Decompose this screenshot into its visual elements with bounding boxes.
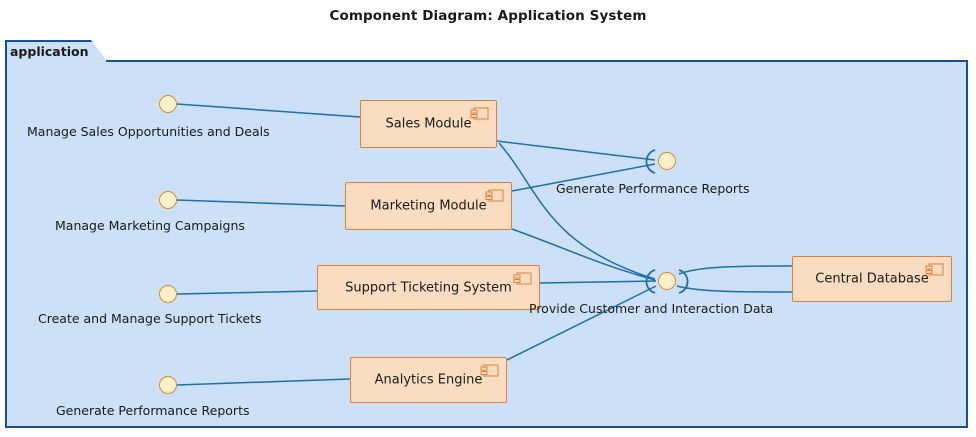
component-sales-module[interactable]: Sales Module <box>360 100 497 148</box>
component-label: Sales Module <box>361 117 496 132</box>
component-label: Marketing Module <box>346 199 511 214</box>
provided-interface-ball-icon[interactable] <box>159 376 177 394</box>
component-support-ticketing-system[interactable]: Support Ticketing System <box>317 265 540 310</box>
assembly-label-generate-reports: Generate Performance Reports <box>556 181 750 196</box>
interface-label-manage-marketing: Manage Marketing Campaigns <box>55 218 245 233</box>
provided-interface-ball-icon[interactable] <box>159 191 177 209</box>
connector-support-to-data <box>540 281 656 283</box>
connector-database-to-data-lower <box>677 286 792 292</box>
assembly-ball-icon-customer-data[interactable] <box>658 272 676 290</box>
connector-sales-provided <box>177 104 360 117</box>
component-label: Central Database <box>793 272 951 287</box>
component-label: Support Ticketing System <box>318 280 539 295</box>
provided-interface-ball-icon[interactable] <box>159 285 177 303</box>
connector-marketing-provided <box>177 200 345 206</box>
connector-support-provided <box>177 291 317 294</box>
interface-label-support-tickets: Create and Manage Support Tickets <box>38 311 262 326</box>
component-central-database[interactable]: Central Database <box>792 256 952 302</box>
component-label: Analytics Engine <box>351 373 506 388</box>
interface-label-generate-reports: Generate Performance Reports <box>56 403 250 418</box>
provided-interface-ball-icon[interactable] <box>159 95 177 113</box>
connector-sales-to-data <box>499 143 655 279</box>
assembly-ball-icon-reports[interactable] <box>658 152 676 170</box>
assembly-label-customer-data: Provide Customer and Interaction Data <box>529 301 773 316</box>
component-analytics-engine[interactable]: Analytics Engine <box>350 357 507 403</box>
connector-analytics-provided <box>177 379 350 385</box>
component-marketing-module[interactable]: Marketing Module <box>345 182 512 230</box>
interface-label-manage-sales: Manage Sales Opportunities and Deals <box>27 124 270 139</box>
connector-sales-to-reports <box>497 141 655 160</box>
connector-database-to-data-upper <box>679 266 792 274</box>
socket-arc-reports <box>646 150 655 173</box>
